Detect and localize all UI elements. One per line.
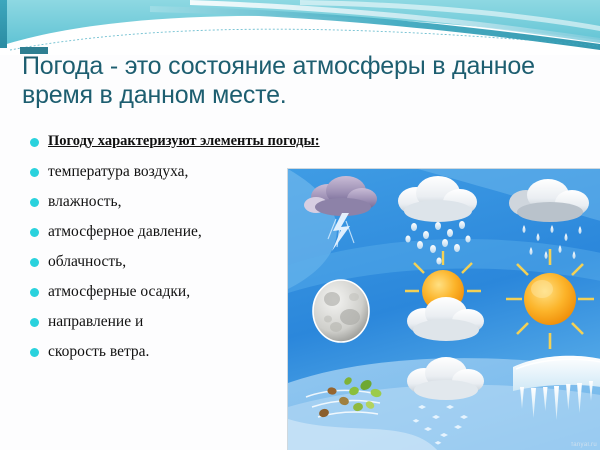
bullet-dot-icon	[30, 288, 39, 297]
bullet-dot-icon	[30, 258, 39, 267]
bullet-dot-icon	[30, 348, 39, 357]
bullet-dot-icon	[30, 318, 39, 327]
banner-left-accent-strip	[0, 0, 7, 48]
bullet-dot-icon	[30, 138, 39, 147]
list-item: влажность,	[30, 191, 292, 221]
presentation-slide: Погода - это состояние атмосферы в данно…	[0, 0, 600, 450]
list-item-label: скорость ветра.	[48, 341, 149, 362]
list-item-label: облачность,	[48, 251, 126, 272]
weather-elements-list: Погоду характеризуют элементы погоды: те…	[30, 131, 292, 371]
image-watermark: fanyal.ru	[571, 442, 597, 448]
list-item: атмосферное давление,	[30, 221, 292, 251]
list-item-label: направление и	[48, 311, 143, 332]
list-item: атмосферные осадки,	[30, 281, 292, 311]
weather-icons-collage: fanyal.ru	[287, 168, 600, 450]
list-item: скорость ветра.	[30, 341, 292, 371]
list-item-label: Погоду характеризуют элементы погоды:	[48, 131, 320, 152]
list-item: температура воздуха,	[30, 161, 292, 191]
list-item-label: атмосферные осадки,	[48, 281, 190, 302]
bullet-dot-icon	[30, 228, 39, 237]
bullet-dot-icon	[30, 198, 39, 207]
list-item: Погоду характеризуют элементы погоды:	[30, 131, 292, 161]
full-moon-icon	[313, 280, 369, 342]
list-item: направление и	[30, 311, 292, 341]
list-item: облачность,	[30, 251, 292, 281]
list-item-label: влажность,	[48, 191, 121, 212]
list-item-label: температура воздуха,	[48, 161, 188, 182]
decorative-wave-banner	[0, 0, 600, 55]
page-title: Погода - это состояние атмосферы в данно…	[22, 52, 574, 110]
list-item-label: атмосферное давление,	[48, 221, 202, 242]
wave-banner-graphic	[0, 0, 600, 55]
bullet-dot-icon	[30, 168, 39, 177]
weather-collage-graphic	[288, 169, 600, 450]
